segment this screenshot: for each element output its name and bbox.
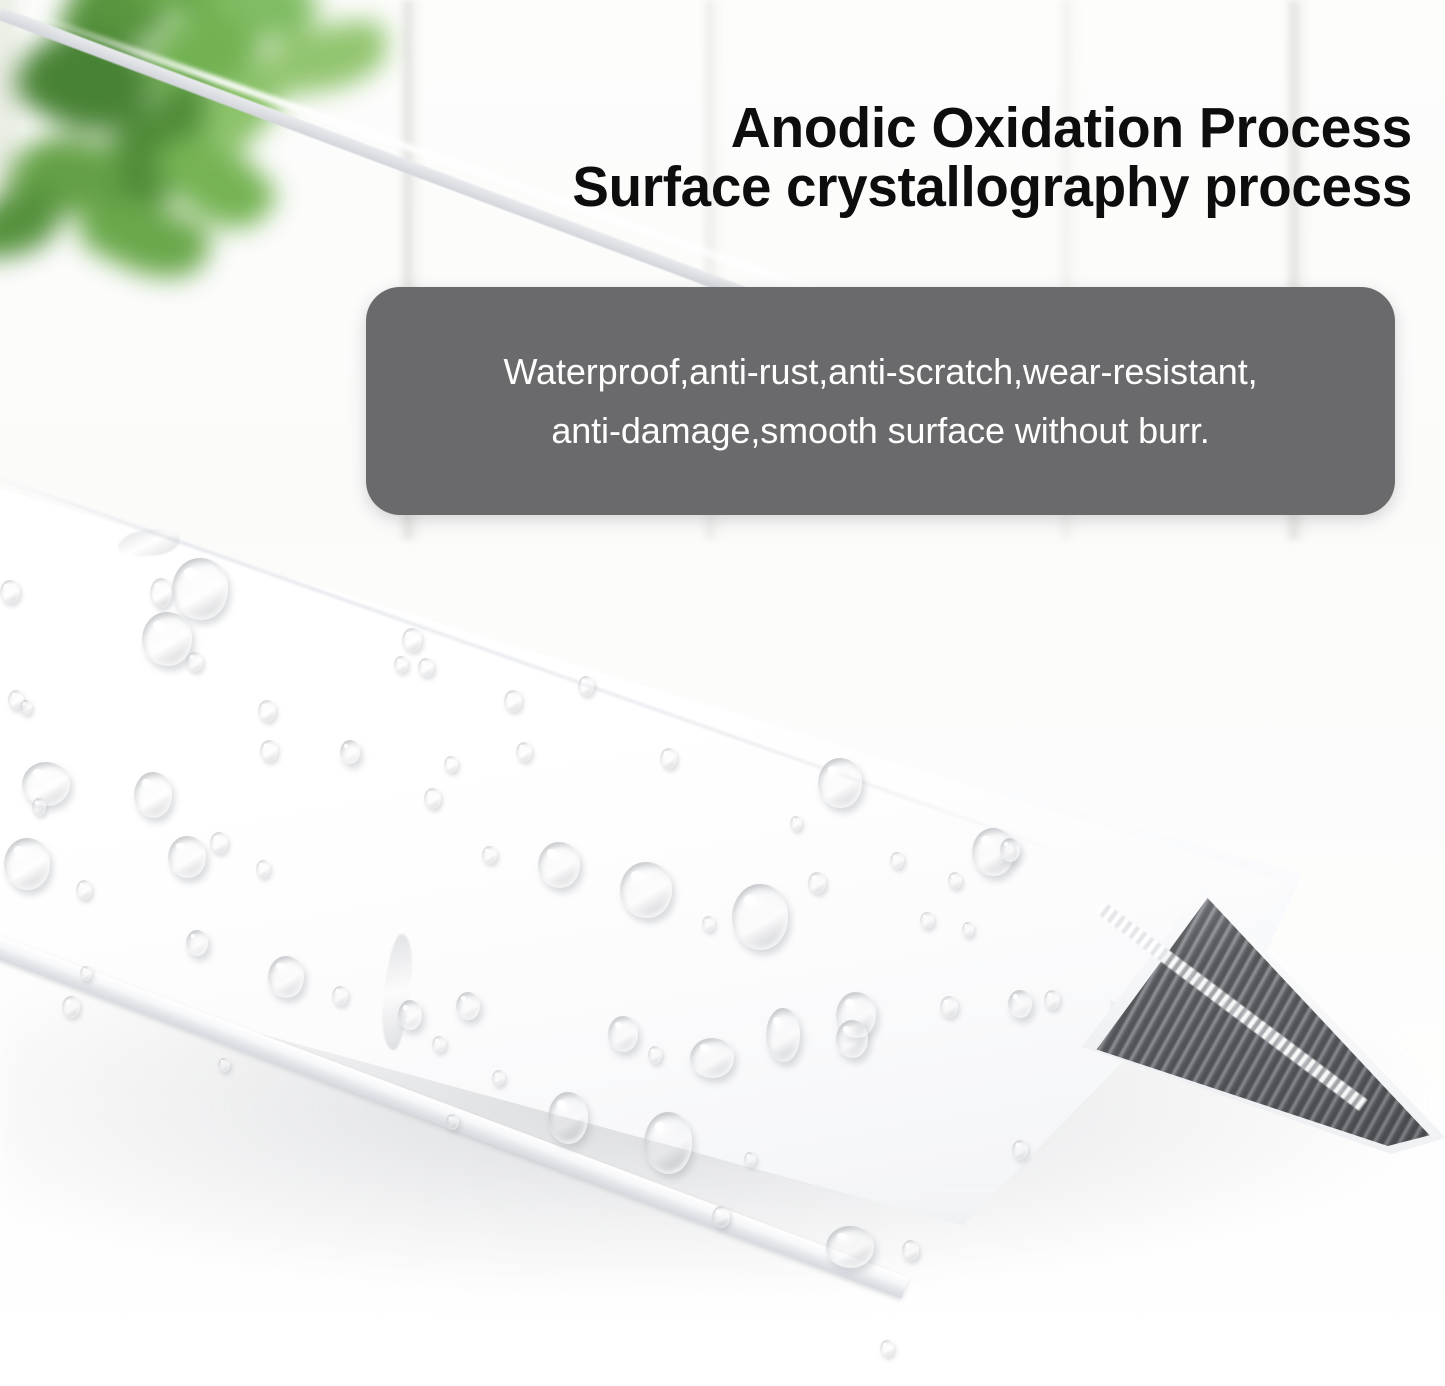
- water-droplet: [260, 740, 278, 762]
- water-droplet: [172, 558, 228, 620]
- water-droplet: [836, 1020, 868, 1058]
- water-droplet: [538, 842, 580, 888]
- water-droplet: [456, 992, 480, 1020]
- water-droplet: [808, 872, 826, 894]
- water-droplet: [648, 1046, 662, 1064]
- water-droplet: [4, 838, 50, 890]
- water-droplet: [578, 676, 594, 696]
- water-droplet: [548, 1092, 588, 1144]
- callout-line-2: anti-damage,smooth surface without burr.: [503, 401, 1257, 460]
- features-callout-box: Waterproof,anti-rust,anti-scratch,wear-r…: [366, 287, 1395, 515]
- water-droplet: [218, 1058, 230, 1072]
- water-droplet: [712, 1206, 730, 1228]
- water-droplet: [940, 996, 958, 1018]
- water-droplet: [702, 916, 715, 932]
- water-droplet: [22, 762, 70, 806]
- water-droplet: [444, 756, 458, 773]
- water-droplet: [818, 758, 862, 808]
- water-droplet: [1044, 990, 1060, 1010]
- water-droplet: [150, 578, 172, 608]
- water-droplet: [744, 1152, 756, 1167]
- water-droplet: [424, 788, 441, 809]
- water-droplet: [186, 652, 203, 672]
- water-droplet: [516, 742, 532, 762]
- water-droplet: [142, 612, 192, 666]
- water-droplet: [62, 996, 80, 1018]
- water-droplet: [332, 986, 348, 1006]
- water-droplet: [32, 798, 46, 816]
- features-callout-text: Waterproof,anti-rust,anti-scratch,wear-r…: [469, 342, 1291, 461]
- water-droplet: [210, 832, 228, 854]
- water-droplet: [962, 922, 974, 937]
- water-droplet: [20, 700, 32, 715]
- water-droplet: [168, 836, 206, 878]
- water-droplet: [920, 912, 934, 929]
- water-droplet: [0, 580, 20, 604]
- water-droplet: [80, 966, 92, 981]
- water-droplet: [258, 700, 276, 722]
- water-droplet: [732, 884, 788, 950]
- water-droplet: [660, 748, 677, 769]
- water-droplet: [644, 1112, 692, 1174]
- water-droplet: [418, 658, 434, 677]
- water-droplet: [186, 930, 208, 956]
- water-droplet: [790, 816, 802, 831]
- water-droplet: [902, 1240, 919, 1261]
- water-droplet: [394, 656, 408, 673]
- water-droplet: [492, 1070, 505, 1086]
- water-droplet: [1000, 838, 1020, 862]
- water-droplet: [398, 1000, 422, 1030]
- callout-line-1: Waterproof,anti-rust,anti-scratch,wear-r…: [503, 342, 1257, 401]
- water-droplet: [446, 1114, 459, 1130]
- water-droplet: [432, 1036, 446, 1053]
- water-droplet: [608, 1016, 638, 1052]
- water-droplet: [482, 846, 497, 864]
- water-droplet: [826, 1226, 874, 1268]
- water-droplet: [256, 860, 270, 878]
- water-droplet: [948, 872, 962, 889]
- water-droplet: [890, 852, 904, 869]
- product-feature-poster: Anodic Oxidation Process Surface crystal…: [0, 0, 1445, 1386]
- title-line-1: Anodic Oxidation Process: [42, 99, 1412, 158]
- water-droplet: [268, 956, 304, 998]
- water-droplet: [766, 1008, 800, 1062]
- water-droplet: [1012, 1140, 1028, 1160]
- water-droplet: [620, 862, 672, 918]
- water-droplet: [880, 1340, 894, 1357]
- page-title: Anodic Oxidation Process Surface crystal…: [0, 99, 1412, 216]
- water-droplet: [1008, 990, 1032, 1018]
- water-droplet: [504, 690, 522, 712]
- water-droplet: [134, 772, 172, 818]
- water-droplet: [690, 1038, 734, 1078]
- title-line-2: Surface crystallography process: [56, 158, 1412, 217]
- water-droplet: [340, 740, 360, 764]
- water-droplet: [402, 628, 422, 652]
- water-droplet: [76, 880, 92, 900]
